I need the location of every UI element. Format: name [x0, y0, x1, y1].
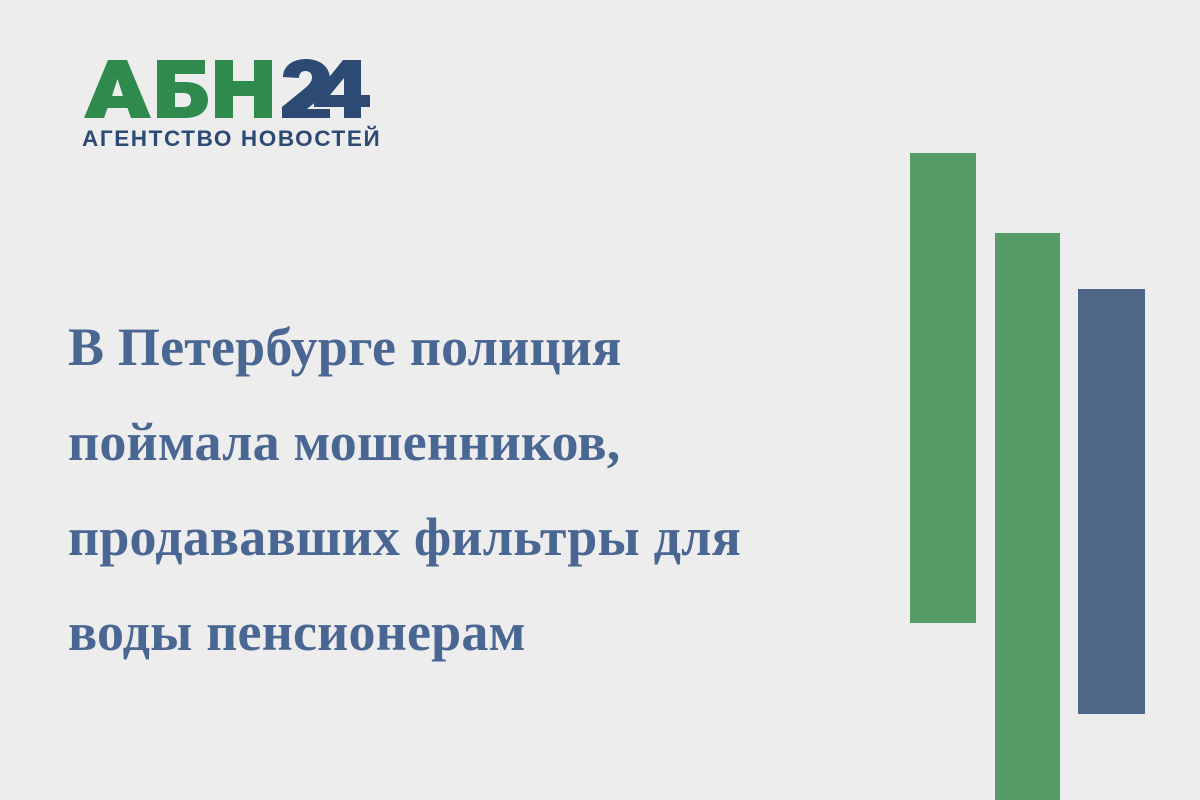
decorative-bar-2 — [995, 233, 1060, 800]
headline-line-4: воды пенсионерам — [68, 585, 868, 680]
decorative-bar-1 — [910, 153, 976, 623]
news-card: АГЕНТСТВО НОВОСТЕЙ В Петербурге полиция … — [0, 0, 1200, 800]
brand-wordmark-icon — [82, 58, 372, 120]
headline-line-2: поймала мошенников, — [68, 395, 868, 490]
headline-line-3: продававших фильтры для — [68, 490, 868, 585]
brand-tagline: АГЕНТСТВО НОВОСТЕЙ — [82, 126, 372, 152]
headline: В Петербурге полиция поймала мошенников,… — [68, 300, 868, 680]
decorative-bar-3 — [1078, 289, 1145, 714]
headline-line-1: В Петербурге полиция — [68, 300, 868, 395]
brand-logo[interactable]: АГЕНТСТВО НОВОСТЕЙ — [82, 58, 372, 152]
